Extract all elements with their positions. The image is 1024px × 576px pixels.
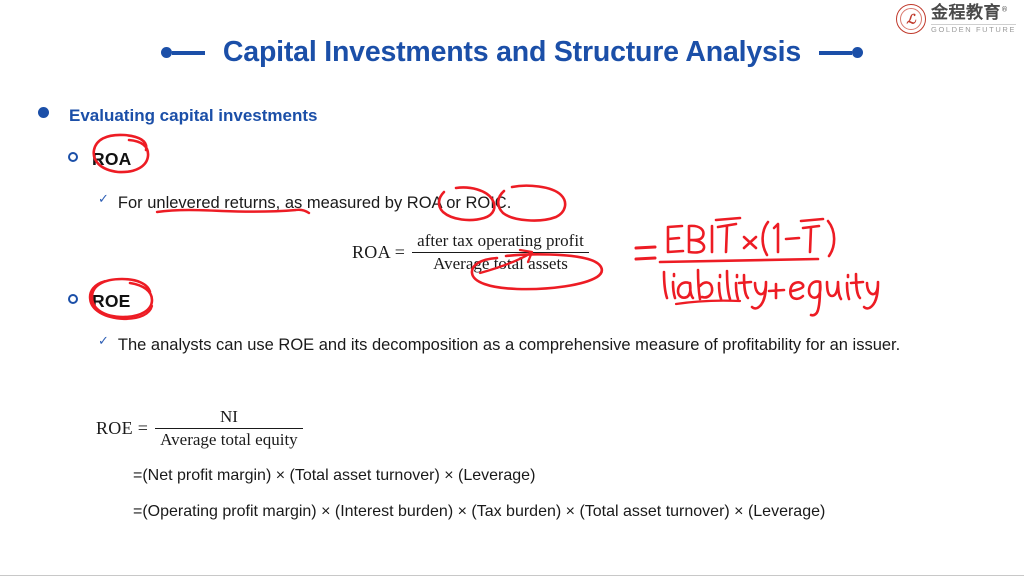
handwritten-denominator-strokes [664,270,878,315]
roe-decomposition-line-2: =(Operating profit margin) × (Interest b… [133,503,825,521]
section-heading-roa: ROA [68,149,132,170]
formula-roe: ROE = NI Average total equity [96,407,303,450]
formula-roe-lhs: ROE = [96,418,148,439]
brand-name-cn-label: 金程教育 [931,3,1001,23]
brand-logo: ℒ 金程教育® GOLDEN FUTURE [896,2,1016,36]
check-item-roe-decomposition: ✓ The analysts can use ROE and its decom… [98,329,968,361]
hollow-ring-bullet-icon [68,294,78,304]
formula-roe-denominator: Average total equity [155,429,303,450]
formula-roa-denominator: Average total assets [428,253,573,274]
brand-text: 金程教育® GOLDEN FUTURE [931,5,1016,34]
title-right-decoration-icon [819,47,863,58]
decoration-line [819,51,852,55]
red-ink-annotation-layer [0,0,1024,576]
title-left-decoration-icon [161,47,205,58]
hollow-ring-bullet-icon [68,152,78,162]
seal-letter: ℒ [897,13,925,26]
section-heading-label: ROE [92,291,131,312]
check-item-text: The analysts can use ROE and its decompo… [118,329,900,361]
formula-roa-numerator: after tax operating profit [412,231,589,252]
formula-roe-fraction: NI Average total equity [155,407,303,450]
formula-roa: ROA = after tax operating profit Average… [352,231,589,274]
handwritten-numerator-strokes [668,218,834,256]
brand-name-cn: 金程教育® [931,5,1016,22]
brand-name-en: GOLDEN FUTURE [931,24,1016,34]
check-item-text: For unlevered returns, as measured by RO… [118,187,511,219]
bullet-label: Evaluating capital investments [69,106,317,126]
checkmark-icon: ✓ [98,329,109,353]
decoration-dot [852,47,863,58]
check-item-roa-unlevered: ✓ For unlevered returns, as measured by … [98,187,658,219]
filled-disc-bullet-icon [38,107,49,118]
slide: ℒ 金程教育® GOLDEN FUTURE Capital Investment… [0,0,1024,576]
roe-decomposition-line-1: =(Net profit margin) × (Total asset turn… [133,467,535,485]
formula-roe-numerator: NI [215,407,243,428]
registered-mark: ® [1001,5,1009,13]
page-title-label: Capital Investments and Structure Analys… [205,36,819,69]
handwritten-equals-mark [636,247,655,259]
decoration-dot [161,47,172,58]
handwritten-fraction-bar [660,259,818,262]
seal-icon: ℒ [896,4,926,34]
bullet-evaluating-capital-investments: Evaluating capital investments [38,106,317,126]
checkmark-icon: ✓ [98,187,109,211]
decoration-line [172,51,205,55]
formula-roa-lhs: ROA = [352,242,405,263]
section-heading-label: ROA [92,149,132,170]
formula-roa-fraction: after tax operating profit Average total… [412,231,589,274]
section-heading-roe: ROE [68,291,131,312]
page-title: Capital Investments and Structure Analys… [0,36,1024,69]
